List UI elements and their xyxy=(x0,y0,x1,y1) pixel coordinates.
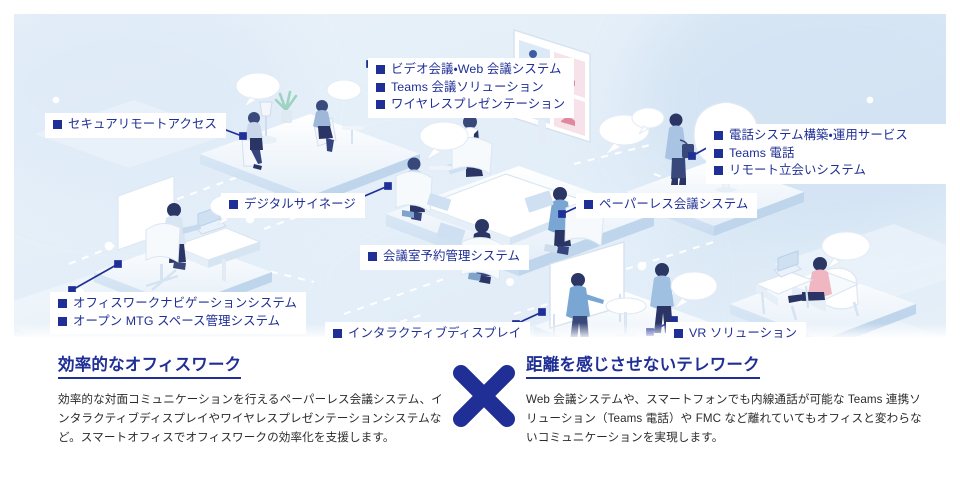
square-bullet-icon xyxy=(714,166,723,175)
callout-line: セキュアリモートアクセス xyxy=(53,116,217,134)
cross-mark-icon xyxy=(447,359,521,433)
summary-left: 効率的なオフィスワーク 効率的な対面コミュニケーションを行えるペーパーレス会議シ… xyxy=(58,351,448,447)
square-bullet-icon xyxy=(714,131,723,140)
callout-line: ワイヤレスプレゼンテーション xyxy=(376,96,565,114)
square-bullet-icon xyxy=(376,83,385,92)
summary-right: 距離を感じさせないテレワーク Web 会議システムや、スマートフォンでも内線通話… xyxy=(526,351,926,447)
summary-left-heading: 効率的なオフィスワーク xyxy=(58,351,241,379)
callout-line: オープン MTG スペース管理システム xyxy=(58,313,297,331)
summary-right-heading: 距離を感じさせないテレワーク xyxy=(526,351,760,379)
diagram-screenshot: セキュアリモートアクセス ビデオ会議・Web 会議システム Teams 会議ソリ… xyxy=(0,0,960,479)
callout-line: リモート立会いシステム xyxy=(714,162,937,180)
square-bullet-icon xyxy=(376,65,385,74)
callout-line: オフィスワークナビゲーションシステム xyxy=(58,295,297,313)
callout-office-navigation: オフィスワークナビゲーションシステム オープン MTG スペース管理システム xyxy=(50,292,306,334)
callout-paperless-meeting: ペーパーレス会議システム xyxy=(576,193,757,218)
square-bullet-icon xyxy=(368,252,377,261)
callout-line: デジタルサイネージ xyxy=(229,196,356,214)
callout-line: Teams 電話 xyxy=(714,145,937,163)
square-bullet-icon xyxy=(229,200,238,209)
summary-left-body: 効率的な対面コミュニケーションを行えるペーパーレス会議システム、インタラクティブ… xyxy=(58,391,448,447)
bottom-summary: 効率的なオフィスワーク 効率的な対面コミュニケーションを行えるペーパーレス会議シ… xyxy=(14,337,946,465)
diagram-canvas: セキュアリモートアクセス ビデオ会議・Web 会議システム Teams 会議ソリ… xyxy=(14,14,946,465)
square-bullet-icon xyxy=(53,120,62,129)
callout-video-conference: ビデオ会議・Web 会議システム Teams 会議ソリューション ワイヤレスプレ… xyxy=(368,58,574,118)
summary-right-body: Web 会議システムや、スマートフォンでも内線通話が可能な Teams 連携ソリ… xyxy=(526,391,926,447)
callout-digital-signage: デジタルサイネージ xyxy=(221,193,365,218)
square-bullet-icon xyxy=(584,200,593,209)
callout-line: Teams 会議ソリューション xyxy=(376,79,565,97)
callout-room-reservation: 会議室予約管理システム xyxy=(360,245,529,270)
square-bullet-icon xyxy=(58,299,67,308)
callout-line: ビデオ会議・Web 会議システム xyxy=(376,61,565,79)
square-bullet-icon xyxy=(376,100,385,109)
callout-phone-system: 電話システム構築・運用サービス Teams 電話 リモート立会いシステム xyxy=(706,124,946,184)
callout-secure-remote-access: セキュアリモートアクセス xyxy=(45,113,226,138)
callout-line: ペーパーレス会議システム xyxy=(584,196,748,214)
callout-line: 電話システム構築・運用サービス xyxy=(714,127,937,145)
square-bullet-icon xyxy=(714,149,723,158)
square-bullet-icon xyxy=(58,317,67,326)
callout-line: 会議室予約管理システム xyxy=(368,248,520,266)
